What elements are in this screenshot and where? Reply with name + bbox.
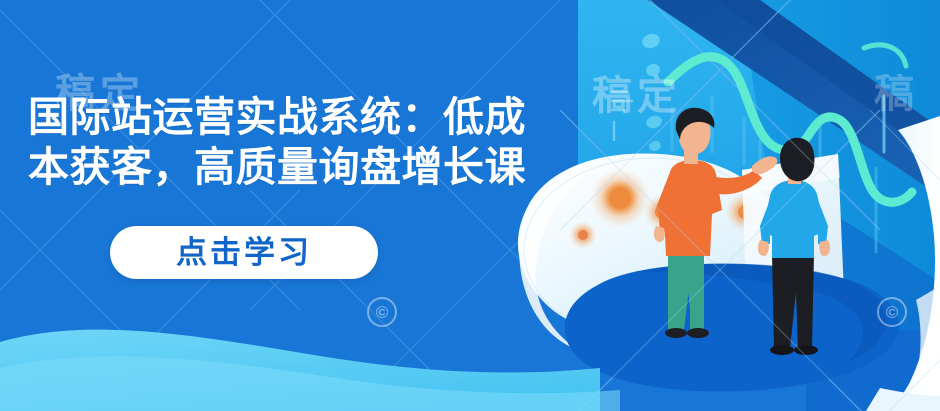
headline-line-1: 国际站运营实战系统：低成	[28, 92, 628, 142]
banner-illustration	[0, 0, 940, 411]
click-to-learn-label: 点击学习	[176, 237, 312, 268]
headline-line-2: 本获客，高质量询盘增长课	[28, 142, 628, 192]
banner-headline: 国际站运营实战系统：低成 本获客，高质量询盘增长课	[28, 92, 628, 192]
course-promo-banner: 稿定 稿定 稿 © © 国际站运营实战系统：低成 本获客，高质量询盘增长课 点击…	[0, 0, 940, 411]
click-to-learn-button[interactable]: 点击学习	[110, 226, 378, 279]
